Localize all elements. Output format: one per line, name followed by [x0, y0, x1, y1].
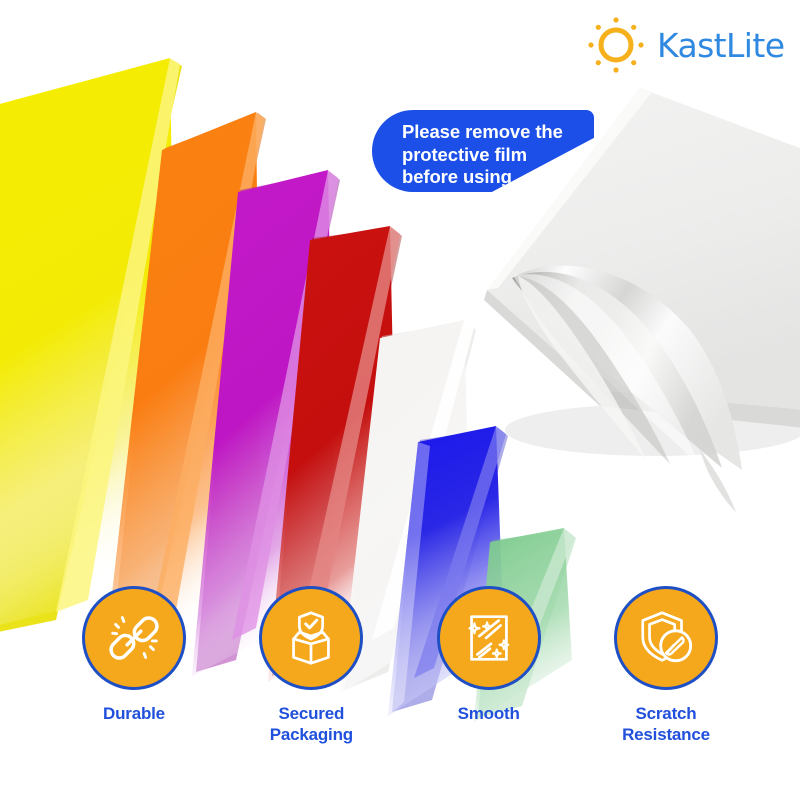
- feature-label: Smooth: [458, 704, 520, 725]
- chain-link-icon: [103, 607, 165, 669]
- feature-scratch-resistance: Scratch Resistance: [586, 586, 746, 786]
- protective-film-callout: Please remove the protective film before…: [372, 110, 594, 192]
- feature-secured-packaging: Secured Packaging: [231, 586, 391, 786]
- feature-durable: Durable: [54, 586, 214, 786]
- feature-icon-disc: [614, 586, 718, 690]
- feature-icon-disc: [259, 586, 363, 690]
- brand-wordmark: KastLite: [657, 26, 784, 65]
- shield-knife-icon: [635, 607, 697, 669]
- feature-label: Durable: [103, 704, 165, 725]
- orange-sheet: [104, 112, 266, 665]
- protective-film-peel: [512, 266, 742, 512]
- feature-icon-disc: [437, 586, 541, 690]
- sun-icon: [585, 14, 647, 76]
- feature-list: Durable Secured Packaging: [0, 586, 800, 786]
- product-image: KastLite Please remove the protective fi…: [0, 0, 800, 800]
- callout-line-1: Please remove the: [402, 121, 598, 144]
- secure-box-icon: [280, 607, 342, 669]
- feature-icon-disc: [82, 586, 186, 690]
- feature-smooth: Smooth: [409, 586, 569, 786]
- feature-label: Scratch Resistance: [622, 704, 710, 745]
- callout-line-2: protective film: [402, 144, 598, 167]
- yellow-sheet: [0, 58, 182, 640]
- brand-logo: KastLite: [585, 14, 784, 76]
- sparkling-panel-icon: [458, 607, 520, 669]
- feature-label: Secured Packaging: [270, 704, 353, 745]
- callout-line-3: before using: [402, 166, 598, 189]
- callout-text: Please remove the protective film before…: [402, 121, 598, 189]
